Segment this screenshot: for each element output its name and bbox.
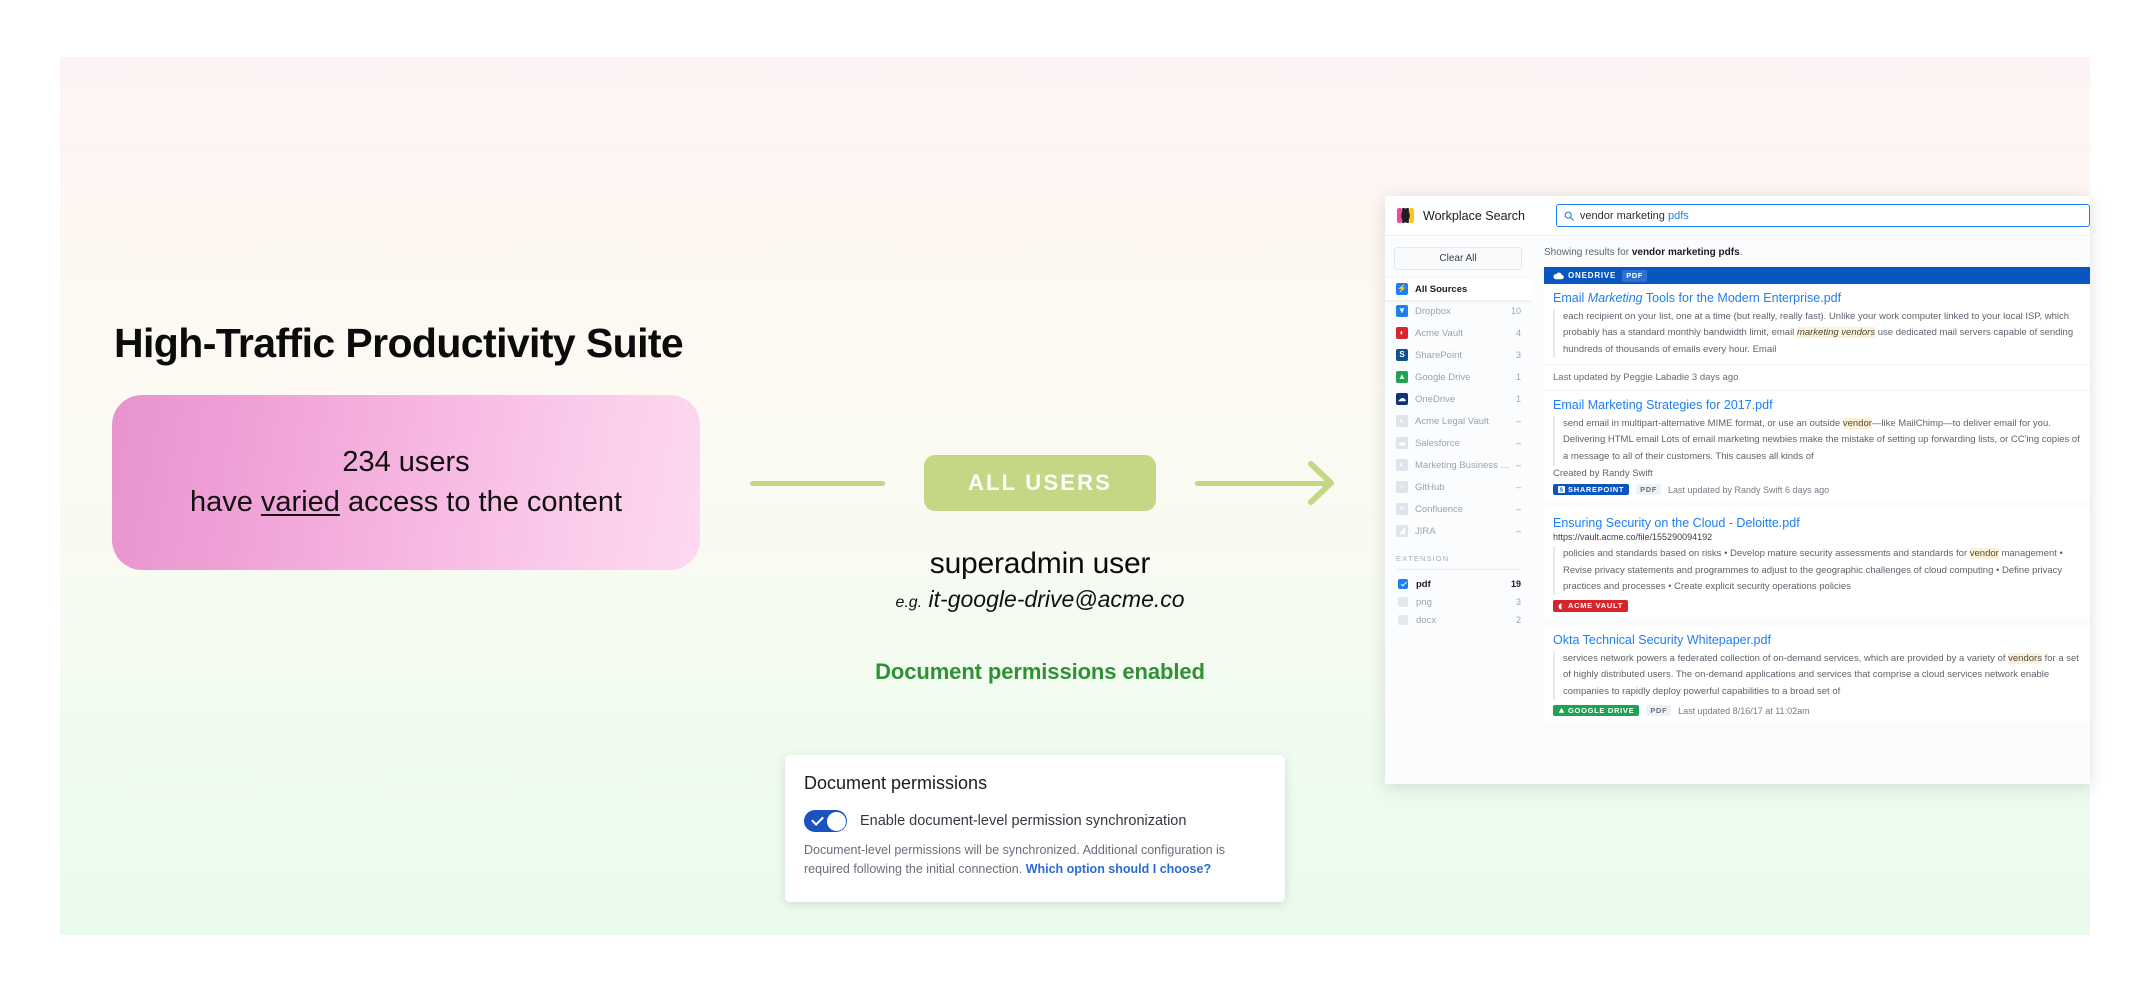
arrow-line-left — [750, 481, 885, 486]
source-filter-item[interactable]: ◐Acme Vault4 — [1385, 322, 1531, 344]
result-3-snippet-highlight: vendor — [1970, 548, 1999, 559]
center-column: ALL USERS superadmin user e.g. it-google… — [760, 452, 1320, 685]
result-2-snippet-part1: send email in multipart-alternative MIME… — [1563, 418, 1843, 429]
document-permissions-enabled-label: Document permissions enabled — [760, 659, 1320, 685]
source-filter-count: 1 — [1516, 394, 1521, 404]
acme-vault-badge: ACME VAULT — [1553, 600, 1628, 612]
source-filter-count: – — [1516, 504, 1521, 514]
result-3-snippet-part1: policies and standards based on risks • … — [1563, 548, 1970, 559]
confluence-icon: ≈ — [1396, 503, 1408, 515]
acme-vault-icon — [1558, 603, 1565, 610]
app-header: Workplace Search vendor marketing pdfs — [1385, 196, 2090, 236]
arrow-head-icon — [1306, 460, 1336, 506]
doc-permission-toggle-row[interactable]: Enable document-level permission synchro… — [804, 810, 1266, 832]
result-4-footer-text: Last updated 8/16/17 at 11:02am — [1678, 706, 1809, 716]
extension-checkbox[interactable] — [1398, 615, 1408, 625]
source-filter-item[interactable]: ▲Google Drive1 — [1385, 366, 1531, 388]
result-card-3[interactable]: Ensuring Security on the Cloud - Deloitt… — [1544, 509, 2090, 617]
left-column: High-Traffic Productivity Suite 234 user… — [112, 320, 802, 570]
clear-all-button[interactable]: Clear All — [1394, 247, 1522, 270]
all-users-chip: ALL USERS — [924, 455, 1156, 511]
varied-access-text: have varied access to the content — [190, 483, 622, 522]
google-drive-icon: ▲ — [1396, 371, 1408, 383]
user-count-text: 234 users — [342, 443, 469, 482]
extension-checkbox[interactable] — [1398, 597, 1408, 607]
cloud-icon — [1553, 272, 1564, 280]
extension-filter-label: pdf — [1416, 579, 1511, 590]
showing-results-text: Showing results for vendor marketing pdf… — [1544, 247, 2090, 258]
source-filter-item[interactable]: ▼Dropbox10 — [1385, 300, 1531, 322]
page-title: High-Traffic Productivity Suite — [114, 320, 802, 367]
result-3-footer: ACME VAULT — [1553, 600, 2080, 612]
extension-filter-count: 3 — [1516, 597, 1521, 607]
source-filter-label: Salesforce — [1415, 438, 1516, 449]
source-filter-label: All Sources — [1415, 284, 1521, 295]
extension-section-header: EXTENSION — [1396, 554, 1520, 563]
result-4-title[interactable]: Okta Technical Security Whitepaper.pdf — [1553, 633, 2080, 647]
source-filter-label: OneDrive — [1415, 394, 1516, 405]
result-3-body: Ensuring Security on the Cloud - Deloitt… — [1544, 509, 2090, 617]
extension-filter-count: 19 — [1511, 579, 1521, 589]
doc-card-title: Document permissions — [804, 773, 1266, 794]
onedrive-source-chip: ONEDRIVE — [1553, 271, 1616, 280]
result-2-created-by: Created by Randy Swift — [1553, 468, 2080, 479]
dropbox-icon: ▼ — [1396, 305, 1408, 317]
app-body: Clear All ⚡All Sources▼Dropbox10◐Acme Va… — [1385, 236, 2090, 783]
toggle-knob — [827, 812, 846, 831]
result-1-title-pre: Email — [1553, 291, 1588, 305]
source-filter-item[interactable]: ◐Acme Legal Vault– — [1385, 410, 1531, 432]
source-filter-item[interactable]: ⚡All Sources — [1385, 278, 1531, 300]
google-drive-icon — [1558, 707, 1565, 714]
document-permissions-card: Document permissions Enable document-lev… — [785, 755, 1285, 902]
sharepoint-badge: S SHAREPOINT — [1553, 484, 1629, 496]
source-filter-count: 10 — [1511, 306, 1521, 316]
result-1-snippet: each recipient on your list, one at a ti… — [1553, 309, 2080, 358]
extension-checkbox[interactable] — [1398, 579, 1408, 589]
result-1-snippet-highlight: marketing vendors — [1797, 327, 1875, 338]
onedrive-pdf-chip: PDF — [1622, 270, 1647, 282]
source-filter-item[interactable]: SSharePoint3 — [1385, 344, 1531, 366]
result-1-title-post: Tools for the Modern Enterprise.pdf — [1643, 291, 1842, 305]
superadmin-user-label: superadmin user — [760, 547, 1320, 581]
result-gap-2 — [1544, 501, 2090, 509]
result-3-title[interactable]: Ensuring Security on the Cloud - Deloitt… — [1553, 516, 2080, 530]
result-1-title-emphasis: Marketing — [1588, 291, 1643, 305]
extension-filter-item[interactable]: png3 — [1385, 593, 1531, 611]
search-query-text: vendor marketing — [1580, 210, 1665, 222]
result-2-title[interactable]: Email Marketing Strategies for 2017.pdf — [1553, 398, 2080, 412]
result-2-pdf-tag: PDF — [1636, 484, 1661, 496]
result-4-snippet-part1: services network powers a federated coll… — [1563, 653, 2008, 664]
search-input-wrapper[interactable]: vendor marketing pdfs — [1556, 204, 2090, 227]
result-1-title[interactable]: Email Marketing Tools for the Modern Ent… — [1553, 291, 2080, 305]
source-filter-label: Confluence — [1415, 504, 1516, 515]
app-title: Workplace Search — [1423, 209, 1525, 223]
users-access-pill: 234 users have varied access to the cont… — [112, 395, 700, 570]
sharepoint-icon: S — [1396, 349, 1408, 361]
source-filter-label: GitHub — [1415, 482, 1516, 493]
source-filter-count: 4 — [1516, 328, 1521, 338]
source-filter-count: – — [1516, 460, 1521, 470]
source-filter-count: 3 — [1516, 350, 1521, 360]
result-3-snippet: policies and standards based on risks • … — [1553, 546, 2080, 595]
source-filter-list: ⚡All Sources▼Dropbox10◐Acme Vault4SShare… — [1385, 278, 1531, 542]
result-4-snippet-highlight: vendors — [2008, 653, 2042, 664]
varied-access-suffix: access to the content — [340, 486, 622, 518]
source-filter-label: JIRA — [1415, 526, 1516, 537]
result-2-footer: S SHAREPOINT PDF Last updated by Randy S… — [1553, 484, 2080, 496]
varied-access-prefix: have — [190, 486, 261, 518]
all-sources-icon: ⚡ — [1396, 283, 1408, 295]
extension-filter-list: pdf19png3docx2 — [1385, 575, 1531, 629]
all-users-arrow: ALL USERS — [760, 452, 1320, 514]
search-input[interactable]: vendor marketing pdfs — [1580, 210, 1689, 222]
result-4-pdf-tag: PDF — [1646, 705, 1671, 717]
source-filter-count: – — [1516, 526, 1521, 536]
workplace-search-logo-icon — [1396, 206, 1415, 225]
source-filter-item[interactable]: ◐Marketing Business Re…– — [1385, 454, 1531, 476]
result-4-footer: GOOGLE DRIVE PDF Last updated 8/16/17 at… — [1553, 705, 2080, 717]
result-gap-3 — [1544, 618, 2090, 626]
source-filter-count: – — [1516, 482, 1521, 492]
permission-sync-toggle-label: Enable document-level permission synchro… — [860, 813, 1186, 829]
result-2-snippet: send email in multipart-alternative MIME… — [1553, 416, 2080, 465]
extension-divider — [1396, 569, 1520, 570]
source-filter-label: Acme Legal Vault — [1415, 416, 1516, 427]
marketing-business-icon: ◐ — [1396, 459, 1408, 471]
source-filter-item[interactable]: ◢JIRA– — [1385, 520, 1531, 542]
onedrive-source-label: ONEDRIVE — [1568, 271, 1616, 280]
source-filter-label: Marketing Business Re… — [1415, 460, 1516, 471]
sharepoint-icon: S — [1558, 486, 1565, 493]
source-filter-count: – — [1516, 416, 1521, 426]
source-filter-item[interactable]: ☁Salesforce– — [1385, 432, 1531, 454]
varied-underline: varied — [261, 486, 340, 518]
result-2-snippet-highlight: vendor — [1843, 418, 1872, 429]
result-card-4[interactable]: Okta Technical Security Whitepaper.pdf s… — [1544, 626, 2090, 722]
source-filter-label: SharePoint — [1415, 350, 1516, 361]
source-filter-item[interactable]: ≈Confluence– — [1385, 498, 1531, 520]
search-results-panel: Showing results for vendor marketing pdf… — [1531, 236, 2090, 783]
extension-filter-label: docx — [1416, 615, 1516, 626]
example-email-row: e.g. it-google-drive@acme.co — [760, 586, 1320, 613]
eg-email: it-google-drive@acme.co — [929, 586, 1185, 612]
showing-query: vendor marketing pdfs — [1632, 247, 1740, 258]
filters-sidebar: Clear All ⚡All Sources▼Dropbox10◐Acme Va… — [1385, 236, 1531, 783]
extension-filter-item[interactable]: pdf19 — [1385, 575, 1531, 593]
source-filter-count: 1 — [1516, 372, 1521, 382]
source-filter-item[interactable]: ☁OneDrive1 — [1385, 388, 1531, 410]
check-icon — [811, 813, 824, 826]
result-1-last-updated: Last updated by Peggie Labadie 3 days ag… — [1544, 364, 2090, 390]
extension-filter-count: 2 — [1516, 615, 1521, 625]
result-1-body: Email Marketing Tools for the Modern Ent… — [1544, 284, 2090, 364]
result-2-footer-text: Last updated by Randy Swift 6 days ago — [1668, 485, 1829, 495]
eg-prefix: e.g. — [895, 594, 922, 611]
source-filter-label: Dropbox — [1415, 306, 1511, 317]
search-suggestion-text: pdfs — [1668, 210, 1689, 222]
sharepoint-badge-label: SHAREPOINT — [1568, 486, 1624, 494]
source-filter-count: – — [1516, 438, 1521, 448]
search-icon — [1564, 211, 1574, 221]
source-filter-label: Acme Vault — [1415, 328, 1516, 339]
result-3-url: https://vault.acme.co/file/155290094192 — [1553, 532, 2080, 542]
result-card-2[interactable]: Email Marketing Strategies for 2017.pdf … — [1544, 391, 2090, 501]
result-4-snippet: services network powers a federated coll… — [1553, 651, 2080, 700]
jira-icon: ◢ — [1396, 525, 1408, 537]
extension-filter-item[interactable]: docx2 — [1385, 611, 1531, 629]
salesforce-icon: ☁ — [1396, 437, 1408, 449]
source-filter-label: Google Drive — [1415, 372, 1516, 383]
google-drive-badge: GOOGLE DRIVE — [1553, 705, 1639, 717]
github-icon: ○ — [1396, 481, 1408, 493]
which-option-link[interactable]: Which option should I choose? — [1026, 862, 1211, 876]
acme-vault-icon: ◐ — [1396, 327, 1408, 339]
acme-legal-vault-icon: ◐ — [1396, 415, 1408, 427]
workplace-search-window: Workplace Search vendor marketing pdfs C… — [1385, 196, 2090, 784]
permission-sync-toggle[interactable] — [804, 810, 847, 832]
source-filter-item[interactable]: ○GitHub– — [1385, 476, 1531, 498]
result-2-body: Email Marketing Strategies for 2017.pdf … — [1544, 391, 2090, 501]
result-card-1[interactable]: ONEDRIVE PDF Email Marketing Tools for t… — [1544, 267, 2090, 390]
onedrive-icon: ☁ — [1396, 393, 1408, 405]
showing-suffix: . — [1740, 247, 1743, 258]
svg-text:S: S — [1559, 487, 1563, 493]
onedrive-banner: ONEDRIVE PDF — [1544, 267, 2090, 284]
acme-vault-badge-label: ACME VAULT — [1568, 602, 1623, 610]
google-drive-badge-label: GOOGLE DRIVE — [1568, 707, 1634, 715]
doc-card-description: Document-level permissions will be synch… — [804, 841, 1266, 880]
result-4-body: Okta Technical Security Whitepaper.pdf s… — [1544, 626, 2090, 722]
showing-prefix: Showing results for — [1544, 247, 1632, 258]
extension-filter-label: png — [1416, 597, 1516, 608]
